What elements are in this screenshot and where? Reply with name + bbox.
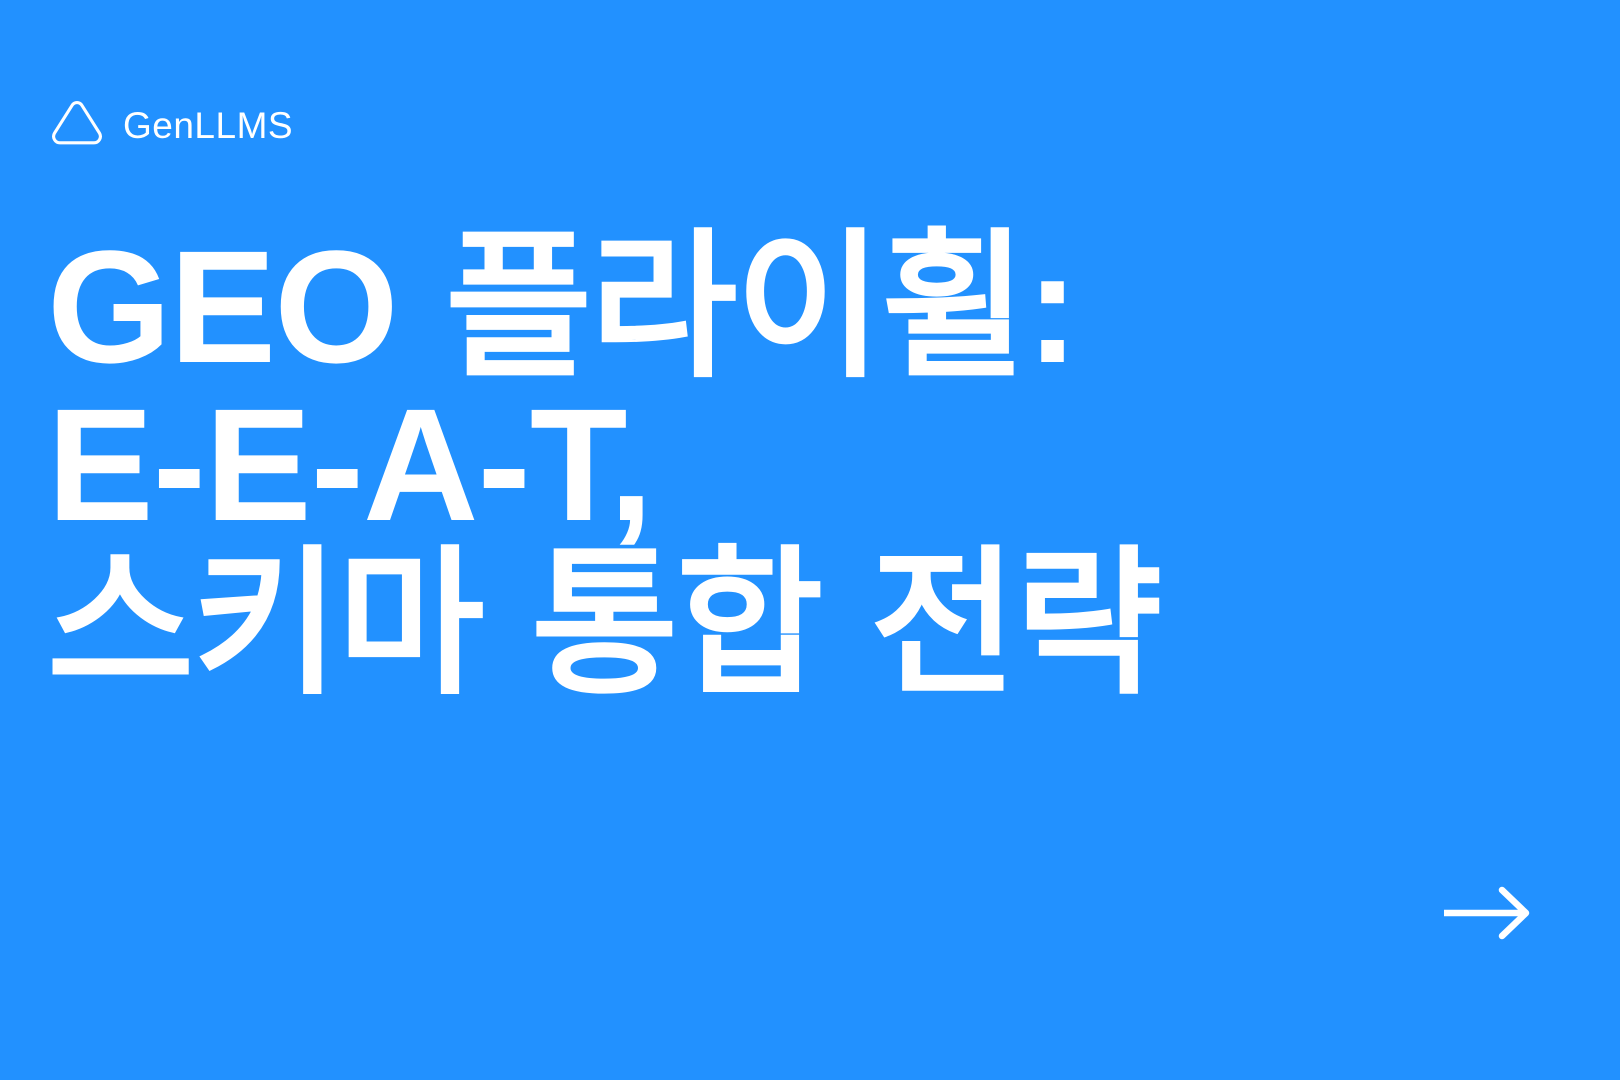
slide-root: GenLLMS GEO 플라이휠: E-E-A-T, 스키마 통합 전략 <box>0 0 1620 1080</box>
headline-line-1: GEO 플라이휠: <box>47 228 1367 386</box>
brand-name: GenLLMS <box>123 107 293 144</box>
page-title: GEO 플라이휠: E-E-A-T, 스키마 통합 전략 <box>47 228 1367 703</box>
brand-logo[interactable]: GenLLMS <box>49 96 293 152</box>
next-slide-button[interactable] <box>1438 884 1538 942</box>
arrow-right-icon <box>1438 884 1538 942</box>
rounded-triangle-icon <box>49 99 105 149</box>
headline-line-3: 스키마 통합 전략 <box>47 545 1367 703</box>
headline-line-2: E-E-A-T, <box>47 386 1367 544</box>
